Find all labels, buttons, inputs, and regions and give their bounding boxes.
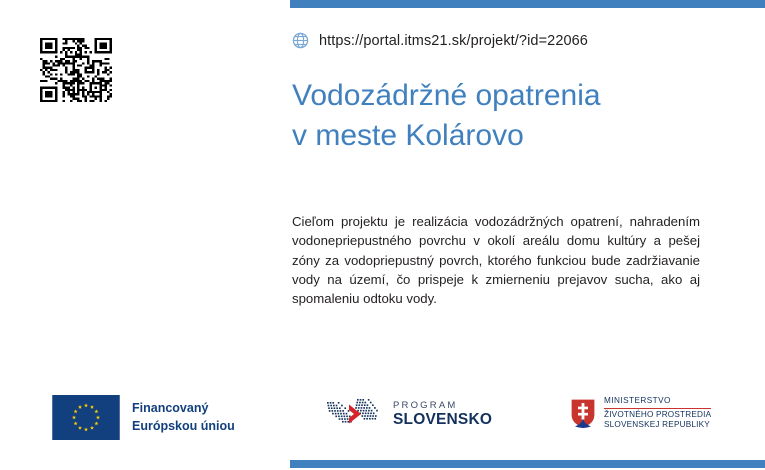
eu-funding-text: Financovaný Európskou úniou	[132, 400, 235, 436]
program-slovensko-mark-icon	[326, 397, 384, 431]
eu-funding-logo: Financovaný Európskou úniou	[52, 395, 235, 440]
program-slovensko-text: PROGRAM SLOVENSKO	[393, 401, 492, 428]
program-slovensko-line-1: PROGRAM	[393, 401, 492, 411]
project-title-line-1: Vodozádržné opatrenia	[292, 79, 601, 112]
qr-code-image	[40, 38, 112, 102]
ministry-logo: MINISTERSTVO ŽIVOTNÉHO PROSTREDIA SLOVEN…	[570, 396, 711, 430]
globe-icon	[292, 32, 309, 49]
content-column: https://portal.itms21.sk/projekt/?id=220…	[292, 0, 704, 309]
eu-funding-line-2: Európskou úniou	[132, 419, 235, 433]
eu-flag-icon	[52, 395, 120, 440]
ministry-line-3: SLOVENSKEJ REPUBLIKY	[604, 420, 711, 430]
program-slovensko-line-2: SLOVENSKO	[393, 412, 492, 428]
project-info-slide: https://portal.itms21.sk/projekt/?id=220…	[0, 0, 765, 470]
project-description: Cieľom projektu je realizácia vodozádržn…	[292, 212, 700, 309]
qr-code[interactable]	[40, 38, 112, 102]
project-url-text[interactable]: https://portal.itms21.sk/projekt/?id=220…	[319, 33, 588, 49]
footer-logo-strip: Financovaný Európskou úniou PROGRAM SLOV…	[0, 392, 765, 440]
project-title: Vodozádržné opatrenia v meste Kolárovo	[292, 76, 700, 156]
program-slovensko-logo: PROGRAM SLOVENSKO	[326, 397, 492, 431]
project-url-row[interactable]: https://portal.itms21.sk/projekt/?id=220…	[292, 32, 704, 49]
ministry-text: MINISTERSTVO ŽIVOTNÉHO PROSTREDIA SLOVEN…	[604, 396, 711, 430]
eu-funding-line-1: Financovaný	[132, 401, 208, 415]
bottom-accent-bar	[290, 460, 765, 468]
slovak-coat-of-arms-icon	[570, 398, 596, 429]
project-title-line-2: v meste Kolárovo	[292, 116, 700, 156]
ministry-line-2: ŽIVOTNÉHO PROSTREDIA	[604, 410, 711, 420]
ministry-line-1: MINISTERSTVO	[604, 396, 711, 409]
